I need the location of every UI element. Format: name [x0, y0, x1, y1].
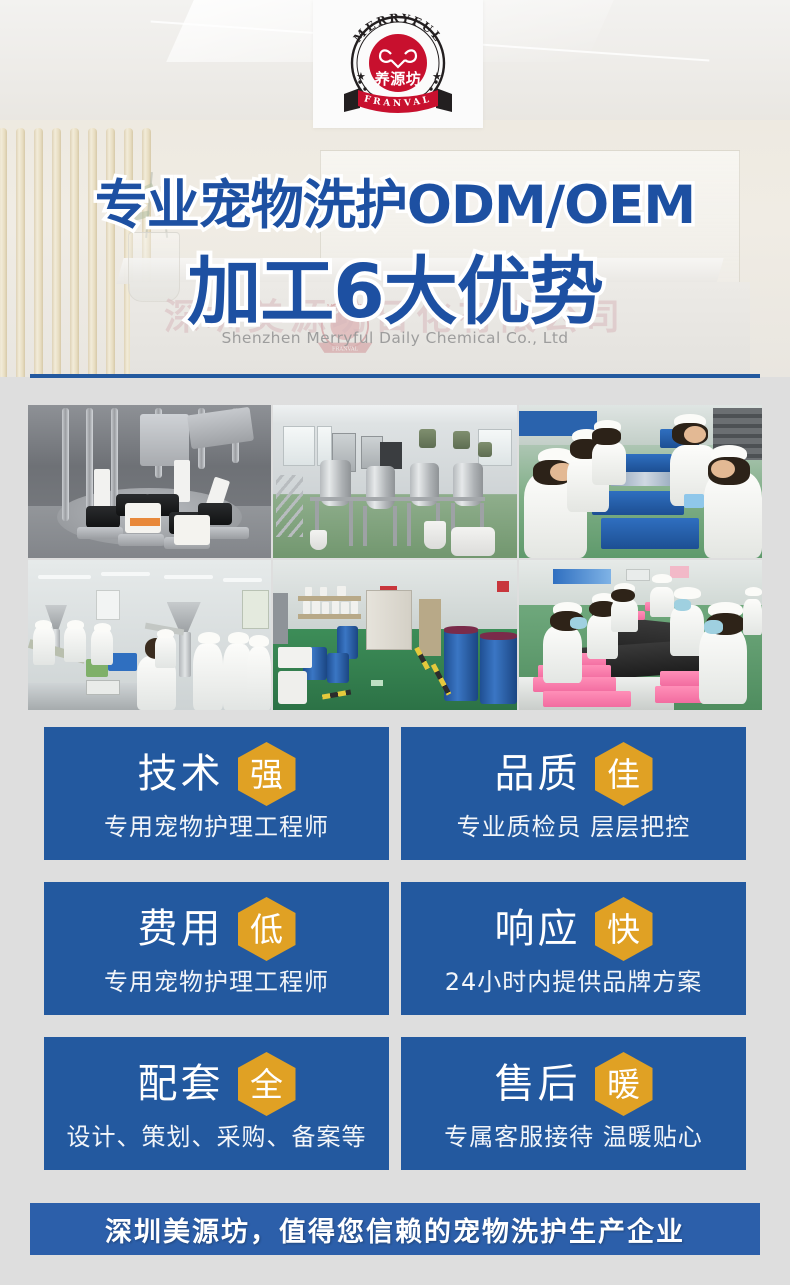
badge-label: 暖 — [607, 1068, 640, 1101]
card-subtitle: 专业质检员 层层把控 — [457, 807, 691, 842]
svg-text:FRANVAL: FRANVAL — [332, 346, 359, 352]
badge-label: 快 — [607, 913, 640, 946]
advantage-card-quality[interactable]: 品质 佳 专业质检员 层层把控 — [401, 727, 746, 860]
photo-material-storage — [273, 560, 516, 710]
card-title: 响应 — [495, 909, 581, 949]
badge-label: 佳 — [607, 758, 640, 791]
advantage-card-response[interactable]: 响应 快 24小时内提供品牌方案 — [401, 882, 746, 1015]
advantage-card-support[interactable]: 配套 全 设计、策划、采购、备案等 — [44, 1037, 389, 1170]
card-heading-row: 响应 快 — [495, 898, 653, 960]
footer-banner: 深圳美源坊，值得您信赖的宠物洗护生产企业 — [30, 1203, 760, 1255]
card-title: 配套 — [138, 1064, 224, 1104]
card-title: 技术 — [138, 754, 224, 794]
headline-line-1: 专业宠物洗护ODM/OEM — [0, 163, 790, 239]
photo-pink-packing-line — [519, 560, 762, 710]
hexagon-badge-icon: 全 — [238, 1052, 296, 1116]
merryful-logo-icon: MERRYFUL ★ ★ 养源坊 ★FRANVAL★ — [334, 8, 462, 120]
photo-mixing-tanks — [273, 405, 516, 558]
card-subtitle: 专用宠物护理工程师 — [104, 962, 329, 997]
section-divider — [30, 374, 760, 378]
photo-capping-machine — [28, 405, 271, 558]
card-title: 售后 — [495, 1064, 581, 1104]
card-heading-row: 技术 强 — [138, 743, 296, 805]
advantage-card-cost[interactable]: 费用 低 专用宠物护理工程师 — [44, 882, 389, 1015]
headline-line-2: 加工6大优势 — [0, 232, 790, 339]
card-heading-row: 费用 低 — [138, 898, 296, 960]
photo-filling-room — [28, 560, 271, 710]
card-subtitle: 专属客服接待 温暖贴心 — [444, 1117, 703, 1152]
advantage-card-technology[interactable]: 技术 强 专用宠物护理工程师 — [44, 727, 389, 860]
advantage-card-grid: 技术 强 专用宠物护理工程师 品质 佳 专业质检员 层层把控 费用 — [44, 727, 746, 1170]
hero-banner: MERRYFUL FRANVAL 深圳美源坊日化有限公司 Shenzhen Me… — [0, 0, 790, 377]
hexagon-badge-icon: 低 — [238, 897, 296, 961]
hexagon-badge-icon: 快 — [595, 897, 653, 961]
promo-page: MERRYFUL FRANVAL 深圳美源坊日化有限公司 Shenzhen Me… — [0, 0, 790, 1285]
hexagon-badge-icon: 强 — [238, 742, 296, 806]
card-title: 品质 — [495, 754, 581, 794]
advantage-card-aftersales[interactable]: 售后 暖 专属客服接待 温暖贴心 — [401, 1037, 746, 1170]
card-title: 费用 — [138, 909, 224, 949]
card-subtitle: 24小时内提供品牌方案 — [445, 962, 703, 997]
badge-label: 低 — [250, 913, 283, 946]
photo-packing-crates — [519, 405, 762, 558]
card-subtitle: 设计、策划、采购、备案等 — [67, 1117, 367, 1152]
hexagon-badge-icon: 暖 — [595, 1052, 653, 1116]
card-heading-row: 品质 佳 — [495, 743, 653, 805]
card-heading-row: 配套 全 — [138, 1053, 296, 1115]
svg-text:★: ★ — [356, 70, 366, 83]
brand-logo-card: MERRYFUL ★ ★ 养源坊 ★FRANVAL★ — [313, 0, 483, 128]
badge-label: 全 — [250, 1068, 283, 1101]
svg-text:养源坊: 养源坊 — [374, 70, 422, 88]
card-subtitle: 专用宠物护理工程师 — [104, 807, 329, 842]
card-heading-row: 售后 暖 — [495, 1053, 653, 1115]
hexagon-badge-icon: 佳 — [595, 742, 653, 806]
badge-label: 强 — [250, 758, 283, 791]
svg-text:★: ★ — [432, 70, 442, 83]
footer-slogan: 深圳美源坊，值得您信赖的宠物洗护生产企业 — [105, 1210, 685, 1249]
factory-photo-grid — [28, 405, 762, 710]
